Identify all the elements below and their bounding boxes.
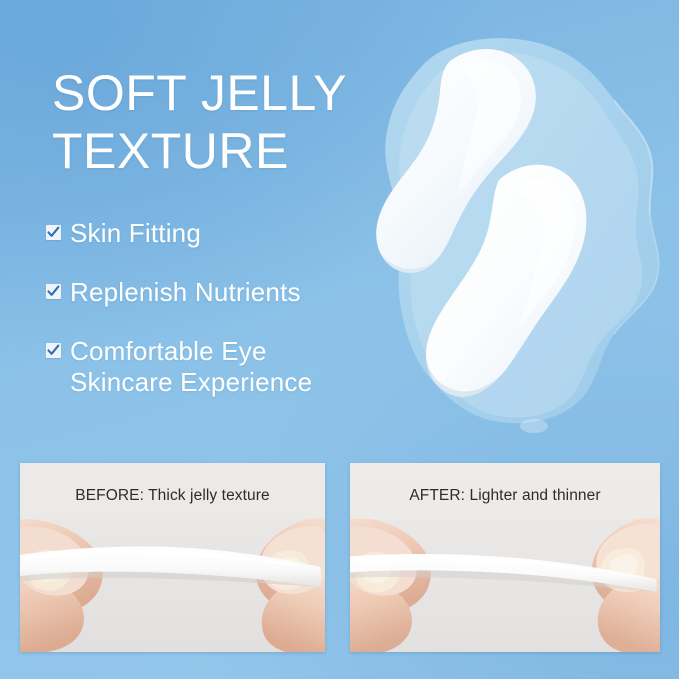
checkbox-checked-icon	[46, 284, 61, 299]
feature-list: Skin Fitting Replenish Nutrients Comfort…	[46, 218, 376, 398]
list-item: Skin Fitting	[46, 218, 376, 249]
list-item-label: Skin Fitting	[70, 218, 201, 249]
checkbox-checked-icon	[46, 343, 61, 358]
product-feature-poster: SOFT JELLY TEXTURE Skin Fitting Replenis…	[0, 0, 679, 679]
before-caption: BEFORE: Thick jelly texture	[20, 487, 325, 505]
list-item: Comfortable Eye Skincare Experience	[46, 336, 376, 398]
before-panel: BEFORE: Thick jelly texture	[20, 463, 325, 652]
list-item-label: Replenish Nutrients	[70, 277, 301, 308]
list-item-label: Comfortable Eye Skincare Experience	[70, 336, 312, 398]
page-title: SOFT JELLY TEXTURE	[52, 64, 382, 180]
after-caption: AFTER: Lighter and thinner	[350, 487, 660, 505]
list-item: Replenish Nutrients	[46, 277, 376, 308]
comparison-section: BEFORE: Thick jelly texture	[0, 463, 679, 653]
eye-patch-gel-photo	[352, 26, 679, 456]
after-panel: AFTER: Lighter and thinner	[350, 463, 660, 652]
checkbox-checked-icon	[46, 225, 61, 240]
